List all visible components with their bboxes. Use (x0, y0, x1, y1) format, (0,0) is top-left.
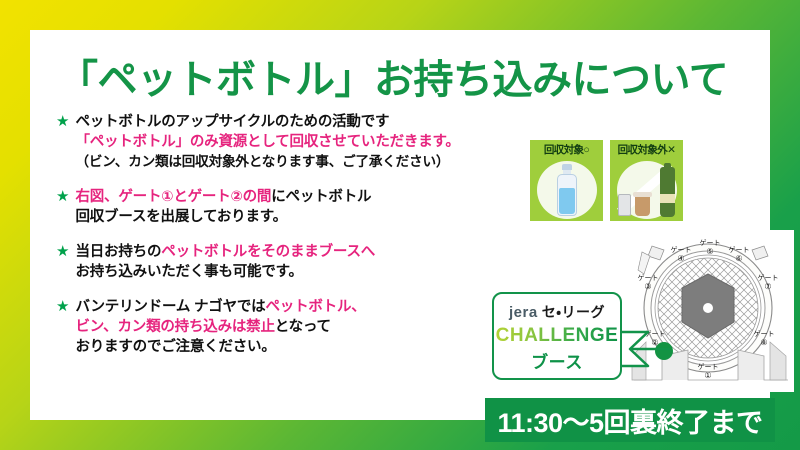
bullet-segment: 当日お持ちの (75, 244, 161, 260)
bullet-line: （ビン、カン類は回収対象外となります事、ご了承ください） (75, 152, 526, 172)
page-title: 「ペットボトル」お持ち込みについて (58, 47, 728, 105)
bullet-text: 当日お持ちのペットボトルをそのままブースへお持ち込みいただく事も可能です。 (75, 242, 526, 282)
challenge-label: CHALLENGE (494, 325, 620, 347)
bullet-text: バンテリンドーム ナゴヤではペットボトル、ビン、カン類の持ち込みは禁止となってお… (75, 297, 526, 357)
svg-text:ゲート: ゲート (700, 238, 721, 247)
bullet-line: おりますのでご注意ください。 (75, 337, 526, 357)
challenge-booth-callout: jeraセ・リーグ CHALLENGE ブース (492, 292, 622, 380)
bullet-item: ★右図、ゲート①とゲート②の間にペットボトル回収ブースを出展しております。 (56, 187, 526, 227)
bullet-line: 回収ブースを出展しております。 (75, 207, 526, 227)
bullet-segment: お持ち込みいただく事も可能です。 (75, 264, 302, 280)
bullet-segment: （ビン、カン類は回収対象外となります事、ご了承ください） (75, 154, 449, 169)
bullet-segment: ペットボトルのアップサイクルのための活動です (75, 114, 389, 130)
bullet-text: 右図、ゲート①とゲート②の間にペットボトル回収ブースを出展しております。 (75, 187, 526, 227)
league-label: セ・リーグ (542, 304, 605, 320)
svg-text:①: ① (704, 371, 711, 380)
icon-box-not-collectable: 回収対象外✕ (610, 140, 683, 221)
svg-text:ゲート: ゲート (758, 273, 779, 282)
bullet-item: ★バンテリンドーム ナゴヤではペットボトル、ビン、カン類の持ち込みは禁止となって… (56, 297, 526, 357)
bullet-segment: おりますのでご注意ください。 (75, 339, 275, 355)
star-icon: ★ (56, 187, 69, 227)
svg-text:ゲート: ゲート (638, 273, 659, 282)
bullet-list: ★ペットボトルのアップサイクルのための活動です「ペットボトル」のみ資源として回収… (56, 112, 526, 372)
hours-banner: 11:30〜5回裏終了まで (485, 398, 775, 442)
bullet-line: バンテリンドーム ナゴヤではペットボトル、 (75, 297, 526, 317)
callout-brand-line: jeraセ・リーグ (494, 302, 620, 322)
booth-label: ブース (494, 348, 620, 373)
bullet-segment: ペットボトルをそのままブースへ (161, 244, 375, 260)
bullet-segment: となって (275, 319, 331, 335)
svg-text:ゲート: ゲート (754, 329, 775, 338)
bullet-text: ペットボトルのアップサイクルのための活動です「ペットボトル」のみ資源として回収さ… (75, 112, 526, 172)
svg-text:⑤: ⑤ (706, 247, 713, 256)
bullet-line: お持ち込みいただく事も可能です。 (75, 262, 526, 282)
icon-box-collectable-caption: 回収対象○ (530, 140, 603, 158)
star-icon: ★ (56, 112, 69, 172)
recycle-icon-boxes: 回収対象○ 回収対象外✕ (530, 140, 683, 221)
svg-text:⑧: ⑧ (760, 338, 767, 347)
jera-logo: jera (509, 304, 538, 321)
bullet-item: ★当日お持ちのペットボトルをそのままブースへお持ち込みいただく事も可能です。 (56, 242, 526, 282)
star-icon: ★ (56, 297, 69, 357)
bullet-line: 右図、ゲート①とゲート②の間にペットボトル (75, 187, 526, 207)
bullet-segment: 「ペットボトル」のみ資源として回収させていただきます。 (75, 134, 459, 150)
svg-text:④: ④ (677, 254, 684, 263)
icon-box-collectable: 回収対象○ (530, 140, 603, 221)
bullet-line: ビン、カン類の持ち込みは禁止となって (75, 317, 526, 337)
svg-text:ゲート: ゲート (729, 245, 750, 254)
svg-text:⑦: ⑦ (764, 282, 771, 291)
bullet-segment: ペットボトル、 (265, 299, 365, 315)
pet-bottle-icon (530, 158, 603, 221)
no-glass-can-cup-icon (610, 158, 683, 221)
bullet-segment: バンテリンドーム ナゴヤでは (75, 299, 265, 315)
bullet-segment: ビン、カン類の持ち込みは禁止 (75, 319, 274, 335)
bullet-segment: 回収ブースを出展しております。 (75, 209, 286, 225)
svg-text:ゲート: ゲート (698, 362, 719, 371)
hours-text: 11:30〜5回裏終了まで (497, 401, 762, 440)
svg-text:⑥: ⑥ (735, 254, 742, 263)
star-icon: ★ (56, 242, 69, 282)
bullet-item: ★ペットボトルのアップサイクルのための活動です「ペットボトル」のみ資源として回収… (56, 112, 526, 172)
content-card: 「ペットボトル」お持ち込みについて ★ペットボトルのアップサイクルのための活動で… (30, 30, 770, 420)
bullet-segment: 右図、ゲート①とゲート②の間 (75, 189, 271, 205)
bullet-line: 当日お持ちのペットボトルをそのままブースへ (75, 242, 526, 262)
icon-box-not-collectable-caption: 回収対象外✕ (610, 140, 683, 158)
svg-text:③: ③ (644, 282, 651, 291)
bullet-line: 「ペットボトル」のみ資源として回収させていただきます。 (75, 132, 526, 152)
svg-text:ゲート: ゲート (671, 245, 692, 254)
bullet-segment: にペットボトル (271, 189, 371, 205)
bullet-line: ペットボトルのアップサイクルのための活動です (75, 112, 526, 132)
